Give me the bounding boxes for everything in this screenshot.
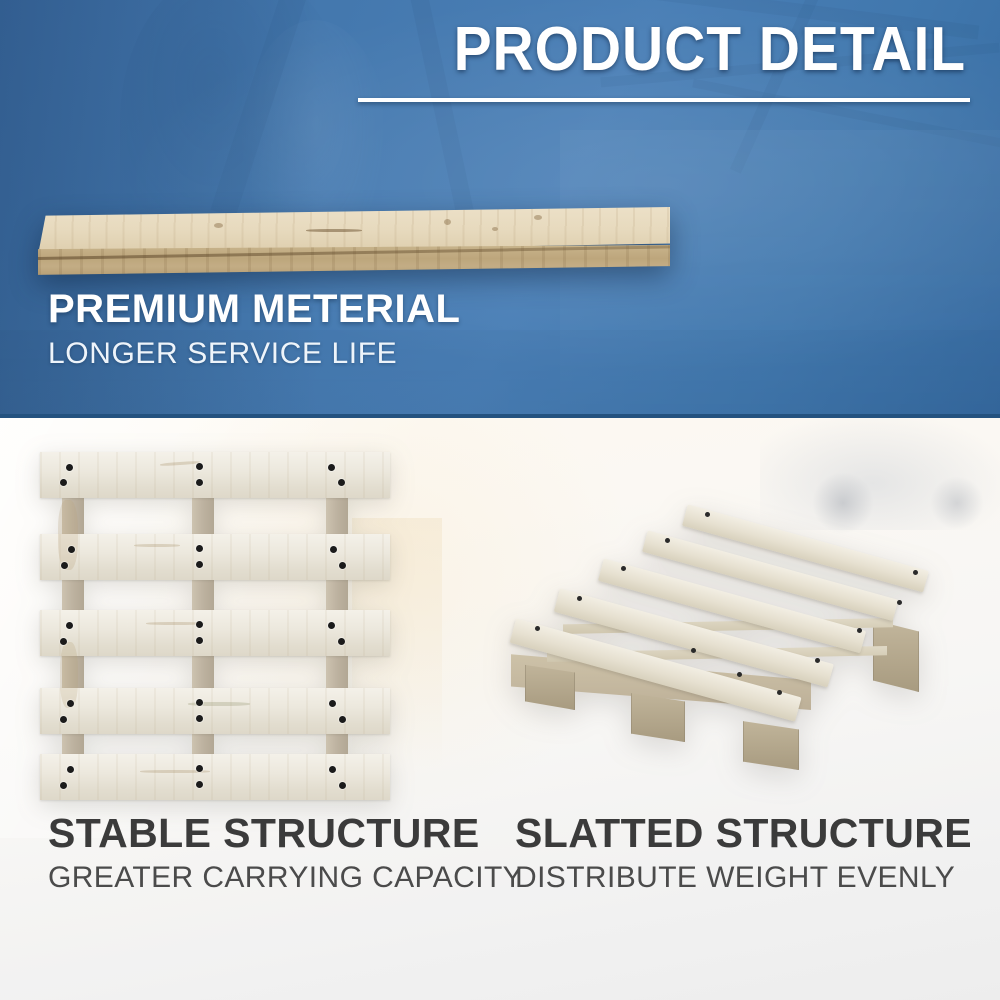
pallet-nail xyxy=(196,699,203,706)
pallet-deck-board xyxy=(40,610,390,656)
pallet-nail xyxy=(338,638,345,645)
wood-grain-line xyxy=(306,229,362,232)
wooden-plank-image xyxy=(38,207,670,279)
pallet-top-view-image xyxy=(40,452,390,800)
pallet-nail xyxy=(328,622,335,629)
pallet-nail xyxy=(815,658,820,663)
pallet-nail xyxy=(61,562,68,569)
pallet-nail xyxy=(67,766,74,773)
pallet-nail xyxy=(196,781,203,788)
pallet-nail xyxy=(329,766,336,773)
wood-knot xyxy=(534,215,542,220)
pallet-foot-block xyxy=(873,620,919,692)
pallet-deck-board xyxy=(40,754,390,800)
pallet-nail xyxy=(196,621,203,628)
wood-knot xyxy=(444,219,451,225)
pallet-nail xyxy=(328,464,335,471)
pallet-nail xyxy=(60,716,67,723)
features-panel xyxy=(0,418,1000,1000)
pallet-nail xyxy=(339,782,346,789)
pallet-nail xyxy=(737,672,742,677)
pallet-nail xyxy=(857,628,862,633)
pallet-nail xyxy=(691,648,696,653)
feature-subtitle: GREATER CARRYING CAPACITY xyxy=(48,861,523,894)
pallet-nail xyxy=(338,479,345,486)
wood-knot xyxy=(214,223,223,228)
pallet-nail xyxy=(329,700,336,707)
pallet-nail xyxy=(66,622,73,629)
hero-caption-subtitle: LONGER SERVICE LIFE xyxy=(48,337,460,370)
pallet-nail xyxy=(60,479,67,486)
pallet-nail xyxy=(621,566,626,571)
pallet-nail xyxy=(705,512,710,517)
pallet-nail xyxy=(60,782,67,789)
pallet-nail xyxy=(330,546,337,553)
pallet-foot-block xyxy=(743,718,799,770)
pallet-deck-board xyxy=(40,452,390,498)
page-title: PRODUCT DETAIL xyxy=(409,18,966,81)
feature-subtitle: DISTRIBUTE WEIGHT EVENLY xyxy=(515,861,972,894)
feature-title: SLATTED STRUCTURE xyxy=(515,812,972,855)
pallet-nail xyxy=(339,562,346,569)
pallet-nail xyxy=(196,545,203,552)
pallet-nail xyxy=(339,716,346,723)
pallet-deck-board xyxy=(40,688,390,734)
pallet-nail xyxy=(913,570,918,575)
pallet-nail xyxy=(196,561,203,568)
pallet-nail xyxy=(196,479,203,486)
pallet-nail xyxy=(196,637,203,644)
pallet-nail xyxy=(577,596,582,601)
pallet-nail xyxy=(196,463,203,470)
product-detail-infographic: PRODUCT DETAIL PREMIUM METERIAL LONGER S… xyxy=(0,0,1000,1000)
wood-grain-line xyxy=(60,642,78,708)
pallet-nail xyxy=(60,638,67,645)
wood-grain-line xyxy=(58,500,78,570)
pallet-deck-board xyxy=(40,534,390,580)
pallet-nail xyxy=(67,700,74,707)
pallet-nail xyxy=(196,765,203,772)
pallet-nail xyxy=(897,600,902,605)
pallet-nail xyxy=(196,715,203,722)
pallet-nail xyxy=(66,464,73,471)
hero-caption-title: PREMIUM METERIAL xyxy=(48,288,460,331)
feature-caption-stable: STABLE STRUCTURE GREATER CARRYING CAPACI… xyxy=(48,812,523,894)
pallet-nail xyxy=(777,690,782,695)
pallet-nail xyxy=(535,626,540,631)
pallet-nail xyxy=(68,546,75,553)
page-title-text: PRODUCT DETAIL xyxy=(454,18,966,81)
pallet-iso-view-image xyxy=(505,500,945,752)
title-underline xyxy=(358,98,970,102)
wood-grain-line xyxy=(134,544,180,547)
pallet-nail xyxy=(665,538,670,543)
hero-caption: PREMIUM METERIAL LONGER SERVICE LIFE xyxy=(48,288,460,370)
wood-knot xyxy=(492,227,498,231)
feature-caption-slatted: SLATTED STRUCTURE DISTRIBUTE WEIGHT EVEN… xyxy=(515,812,972,894)
feature-title: STABLE STRUCTURE xyxy=(48,812,523,855)
